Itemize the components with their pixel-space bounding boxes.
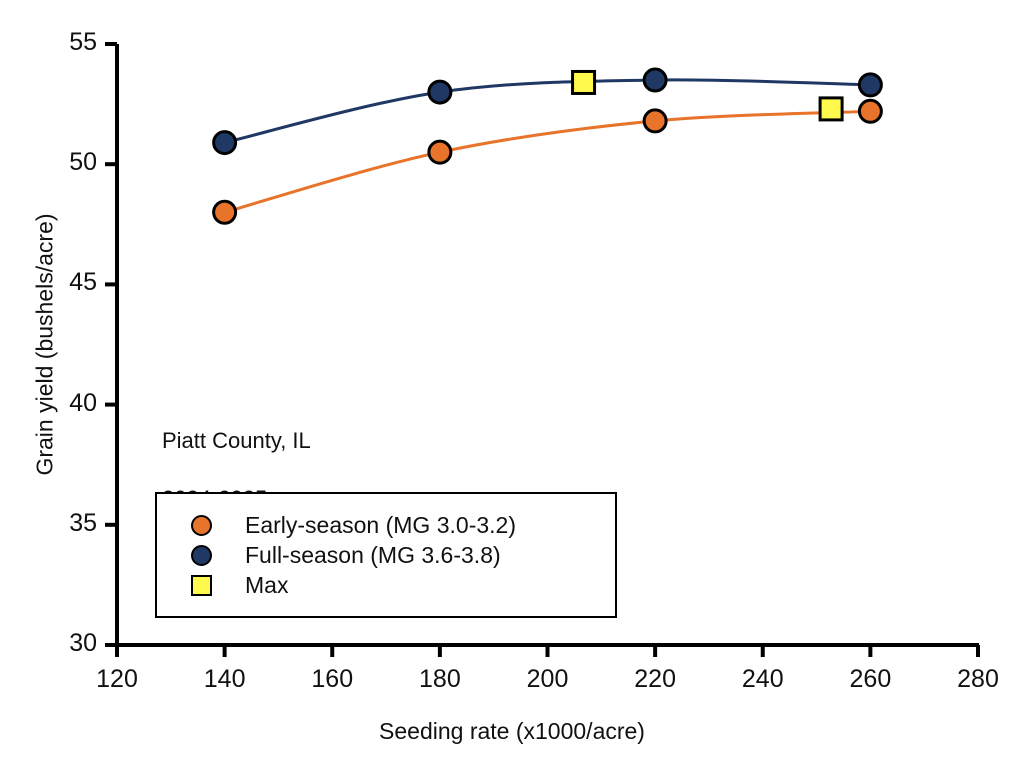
legend-item[interactable]: Early-season (MG 3.0-3.2) xyxy=(157,510,615,540)
data-point-marker xyxy=(859,74,881,96)
chart-figure: 303540455055 120140160180200220240260280… xyxy=(0,0,1024,763)
x-tick-label: 140 xyxy=(185,665,265,694)
x-tick-label: 180 xyxy=(400,665,480,694)
y-tick-label: 30 xyxy=(69,629,97,658)
legend-square-icon xyxy=(191,575,212,596)
data-point-marker xyxy=(429,141,451,163)
x-tick-label: 200 xyxy=(508,665,588,694)
legend-swatch-cell xyxy=(157,575,245,596)
legend-item[interactable]: Full-season (MG 3.6-3.8) xyxy=(157,540,615,570)
plot-canvas xyxy=(0,0,1024,763)
legend-circle-icon xyxy=(191,515,212,536)
max-point-marker xyxy=(820,98,842,120)
max-point-marker xyxy=(573,71,595,93)
legend-rows: Early-season (MG 3.0-3.2)Full-season (MG… xyxy=(157,494,615,600)
series-lines xyxy=(225,80,871,212)
x-tick-label: 160 xyxy=(292,665,372,694)
legend-swatch-cell xyxy=(157,515,245,536)
legend-circle-icon xyxy=(191,545,212,566)
data-point-marker xyxy=(429,81,451,103)
x-tick-label: 120 xyxy=(77,665,157,694)
data-point-marker xyxy=(859,100,881,122)
legend-item-label: Full-season (MG 3.6-3.8) xyxy=(245,542,501,569)
data-point-marker xyxy=(644,69,666,91)
y-tick-label: 45 xyxy=(69,268,97,297)
y-axis-title: Grain yield (bushels/acre) xyxy=(32,194,59,494)
y-tick-label: 55 xyxy=(69,28,97,57)
x-tick-label: 240 xyxy=(723,665,803,694)
x-axis-title: Seeding rate (x1000/acre) xyxy=(0,718,1024,745)
legend-item-label: Early-season (MG 3.0-3.2) xyxy=(245,512,516,539)
y-tick-label: 35 xyxy=(69,509,97,538)
data-point-marker xyxy=(214,201,236,223)
series-markers xyxy=(214,69,882,223)
x-tick-label: 260 xyxy=(830,665,910,694)
legend-item-label: Max xyxy=(245,572,288,599)
x-tick-label: 220 xyxy=(615,665,695,694)
y-tick-label: 40 xyxy=(69,389,97,418)
legend-swatch-cell xyxy=(157,545,245,566)
y-tick-label: 50 xyxy=(69,148,97,177)
data-point-marker xyxy=(214,132,236,154)
x-tick-label: 280 xyxy=(938,665,1018,694)
data-point-marker xyxy=(644,110,666,132)
annotation-line-1: Piatt County, IL xyxy=(162,426,311,455)
legend-item[interactable]: Max xyxy=(157,570,615,600)
series-line xyxy=(225,111,871,212)
chart-legend: Early-season (MG 3.0-3.2)Full-season (MG… xyxy=(155,492,617,618)
